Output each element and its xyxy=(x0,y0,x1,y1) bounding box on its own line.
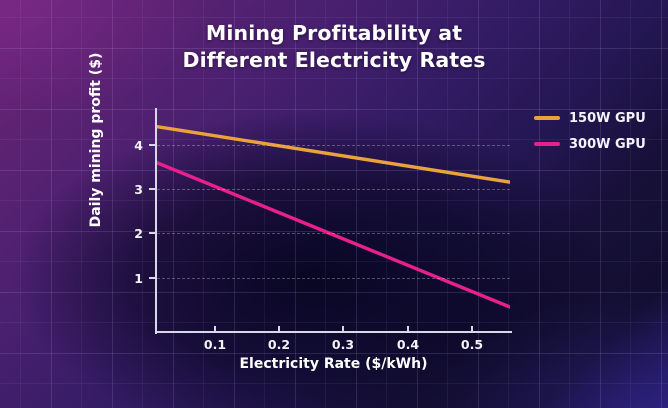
y-tick-mark-2 xyxy=(149,232,156,234)
plot-area xyxy=(157,110,510,332)
y-tick-label-3: 3 xyxy=(103,182,143,197)
x-tick-label-2: 0.3 xyxy=(323,337,363,352)
y-tick-mark-4 xyxy=(149,144,156,146)
y-tick-label-2: 2 xyxy=(103,226,143,241)
series-lines xyxy=(157,110,510,332)
x-tick-mark-2 xyxy=(342,326,344,333)
gridline-y-2 xyxy=(157,233,510,234)
x-tick-label-4: 0.5 xyxy=(452,337,492,352)
x-tick-label-0: 0.1 xyxy=(195,337,235,352)
legend-item-300w-gpu[interactable]: 300W GPU xyxy=(534,131,664,157)
x-axis-label: Electricity Rate ($/kWh) xyxy=(157,356,510,372)
legend-label-300w-gpu: 300W GPU xyxy=(569,137,646,152)
y-tick-label-4: 4 xyxy=(103,138,143,153)
x-tick-mark-3 xyxy=(407,326,409,333)
legend-label-150w-gpu: 150W GPU xyxy=(569,111,646,126)
y-axis-label: Daily mining profit ($) xyxy=(88,30,104,250)
y-tick-mark-1 xyxy=(149,277,156,279)
x-tick-label-3: 0.4 xyxy=(388,337,428,352)
x-tick-label-1: 0.2 xyxy=(259,337,299,352)
x-tick-mark-4 xyxy=(471,326,473,333)
y-tick-mark-3 xyxy=(149,188,156,190)
chart-figure: Mining Profitability at Different Electr… xyxy=(0,0,668,408)
legend-swatch-150w-gpu xyxy=(534,116,560,120)
series-line-300w-gpu xyxy=(157,163,510,307)
x-tick-mark-0 xyxy=(214,326,216,333)
gridline-y-4 xyxy=(157,145,510,146)
gridline-y-3 xyxy=(157,189,510,190)
x-tick-mark-1 xyxy=(278,326,280,333)
legend-item-150w-gpu[interactable]: 150W GPU xyxy=(534,105,664,131)
series-line-150w-gpu xyxy=(157,127,510,182)
chart-legend: 150W GPU 300W GPU xyxy=(534,105,664,157)
y-axis-spine xyxy=(155,108,157,334)
legend-swatch-300w-gpu xyxy=(534,142,560,146)
gridline-y-1 xyxy=(157,278,510,279)
x-axis-spine xyxy=(155,331,512,333)
y-tick-label-1: 1 xyxy=(103,271,143,286)
